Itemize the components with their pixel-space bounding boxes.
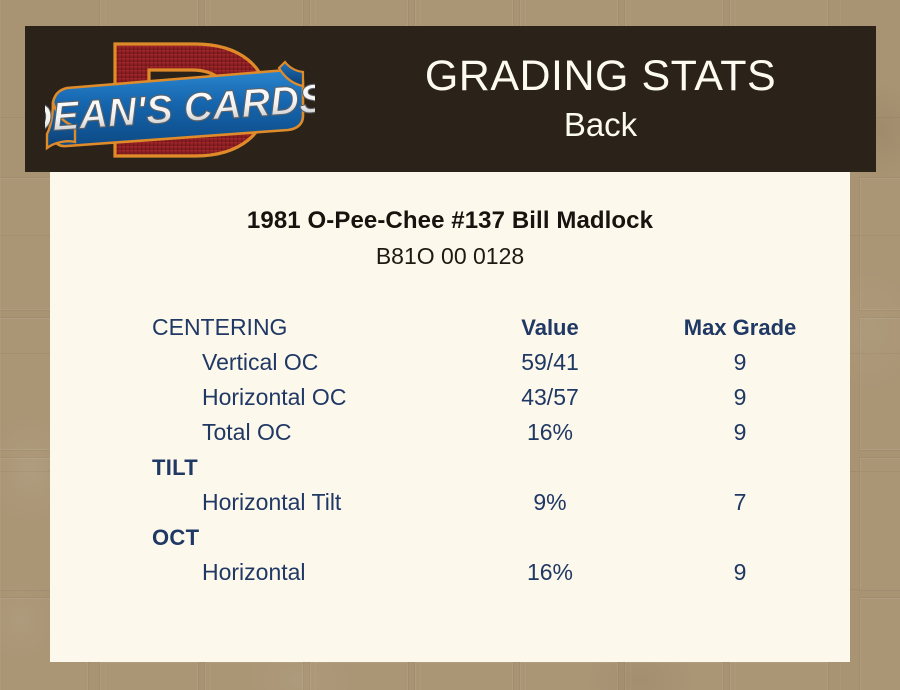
table-row: Horizontal16%9 — [150, 557, 850, 592]
deans-cards-logo-icon: DEAN'S CARDS — [45, 30, 315, 170]
collage-card — [860, 458, 900, 590]
row-max-grade: 7 — [650, 487, 830, 518]
collage-card — [415, 662, 513, 690]
row-value: 59/41 — [480, 347, 620, 378]
header-title-group: GRADING STATS Back — [325, 26, 876, 172]
collage-card — [625, 662, 723, 690]
row-max-grade: Max Grade — [650, 312, 830, 343]
row-value: 16% — [480, 557, 620, 588]
logo-ribbon: DEAN'S CARDS — [45, 62, 315, 148]
row-label: Horizontal Tilt — [202, 487, 341, 518]
row-max-grade: 9 — [650, 557, 830, 588]
collage-card — [860, 318, 900, 450]
table-header-row: CENTERINGValueMax Grade — [150, 312, 850, 347]
row-label: Total OC — [202, 417, 291, 448]
row-max-grade: 9 — [650, 347, 830, 378]
row-label: Horizontal OC — [202, 382, 346, 413]
row-value: 43/57 — [480, 382, 620, 413]
table-row: Horizontal OC43/579 — [150, 382, 850, 417]
card-title: 1981 O-Pee-Chee #137 Bill Madlock — [50, 207, 850, 235]
table-row: Total OC16%9 — [150, 417, 850, 452]
row-max-grade: 9 — [650, 417, 830, 448]
page-title: GRADING STATS — [425, 54, 776, 99]
row-label: Horizontal — [202, 557, 306, 588]
collage-card — [520, 662, 618, 690]
collage-card — [860, 598, 900, 690]
content-panel: 1981 O-Pee-Chee #137 Bill Madlock B81O 0… — [50, 172, 850, 662]
deans-cards-logo[interactable]: DEAN'S CARDS — [45, 30, 315, 170]
collage-card — [100, 662, 198, 690]
row-value: 9% — [480, 487, 620, 518]
page-subtitle: Back — [564, 106, 637, 144]
collage-card — [310, 662, 408, 690]
table-row: Vertical OC59/419 — [150, 347, 850, 382]
page-root: DEAN'S CARDS GRADING STATS Back 1981 O-P… — [0, 0, 900, 690]
collage-card — [205, 662, 303, 690]
collage-card — [730, 662, 828, 690]
table-section-row: OCT — [150, 522, 850, 557]
header-band: DEAN'S CARDS GRADING STATS Back — [25, 26, 876, 172]
table-section-row: TILT — [150, 452, 850, 487]
row-value: Value — [480, 312, 620, 343]
grading-stats-table: CENTERINGValueMax GradeVertical OC59/419… — [150, 312, 850, 592]
row-label: CENTERING — [152, 312, 287, 343]
row-label: Vertical OC — [202, 347, 318, 378]
table-row: Horizontal Tilt9%7 — [150, 487, 850, 522]
row-label: OCT — [152, 522, 199, 553]
card-code: B81O 00 0128 — [50, 243, 850, 270]
collage-card — [860, 178, 900, 310]
row-label: TILT — [152, 452, 198, 483]
row-max-grade: 9 — [650, 382, 830, 413]
row-value: 16% — [480, 417, 620, 448]
